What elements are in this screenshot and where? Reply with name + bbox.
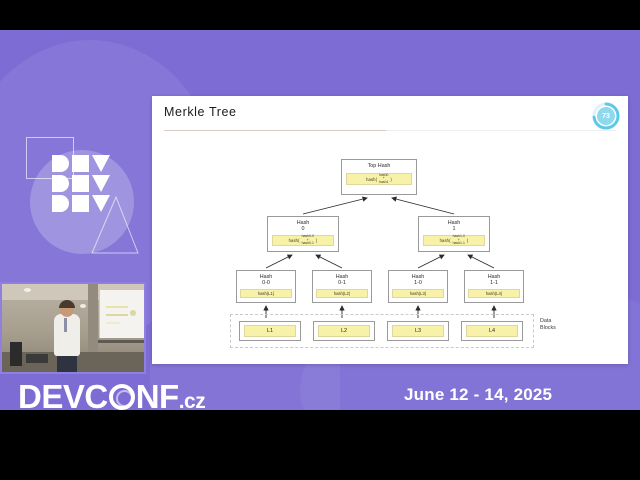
data-block-label: L3	[392, 325, 444, 337]
speaker-legs	[57, 354, 77, 374]
ceiling-light-icon	[24, 288, 31, 292]
letterbox-top	[0, 0, 640, 30]
node-hash-0-1: Hash 0-1 hash(L2)	[312, 270, 372, 303]
formula-fn: hash(	[289, 238, 300, 243]
projection-screen	[99, 290, 145, 338]
node-formula: hash(L4)	[468, 289, 520, 298]
devconf-wordmark: DEVC NF .cz open source community confer…	[18, 380, 205, 410]
operand-bottom: hash0-1	[302, 242, 314, 246]
node-hash-1-0: Hash 1-0 hash(L3)	[388, 270, 448, 303]
data-blocks-caption: Data Blocks	[540, 318, 556, 332]
data-block-label: L4	[466, 325, 518, 337]
wordmark-pre: DEVC	[18, 380, 108, 410]
node-formula: hash( hash0-0 + hash0-1 )	[272, 235, 334, 246]
data-blocks-group: L1 L2 L3 L4	[230, 314, 534, 348]
operand-bottom: hash1	[379, 181, 388, 185]
node-label: Top Hash	[368, 160, 391, 169]
node-formula: hash( hash1-0 + hash1-1 )	[423, 235, 485, 246]
ceiling-light-icon	[80, 304, 86, 308]
formula-operands: hash1-0 + hash1-1	[453, 235, 465, 246]
presentation-slide: Merkle Tree 73	[152, 96, 628, 364]
data-block: L2	[313, 321, 375, 341]
wordmark-tld: .cz	[179, 391, 206, 410]
screen-content-line	[106, 306, 128, 308]
node-formula: hash(L1)	[240, 289, 292, 298]
formula-fn: hash(	[366, 177, 377, 182]
wordmark-row: DEVC NF .cz	[18, 380, 205, 410]
node-formula: hash(L2)	[316, 289, 368, 298]
footer-branding: DEVC NF .cz open source community confer…	[0, 372, 640, 410]
node-label: Hash 1-0	[412, 271, 425, 287]
screen-content-line	[106, 322, 120, 324]
video-frame: Merkle Tree 73	[0, 0, 640, 480]
operand-bottom: hash1-1	[453, 242, 465, 246]
node-label: Hash 0-1	[336, 271, 349, 287]
data-block: L3	[387, 321, 449, 341]
screen-content-dot	[130, 310, 136, 316]
node-formula: hash(L3)	[392, 289, 444, 298]
formula-close: )	[467, 238, 469, 243]
formula-operands: hash0-0 + hash0-1	[302, 235, 314, 246]
speaker-lanyard	[64, 318, 67, 332]
screen-content-line	[106, 314, 128, 316]
data-block: L1	[239, 321, 301, 341]
formula-fn: hash(	[440, 238, 451, 243]
formula-operands: hash0 + hash1	[379, 174, 388, 185]
event-date: June 12 - 14, 2025	[404, 384, 584, 407]
node-hash-0: Hash 0 hash( hash0-0 + hash0-1 )	[267, 216, 339, 252]
node-hash-1: Hash 1 hash( hash1-0 + hash1-1 )	[418, 216, 490, 252]
node-top-hash: Top Hash hash( hash0 + hash1 )	[341, 159, 417, 195]
node-hash-1-1: Hash 1-1 hash(L4)	[464, 270, 524, 303]
letterbox-bottom	[0, 410, 640, 480]
desk-edge	[98, 340, 146, 343]
devconf-logo-mark	[8, 125, 148, 275]
data-block-label: L2	[318, 325, 370, 337]
node-label: Hash 0-0	[260, 271, 273, 287]
node-formula: hash( hash0 + hash1 )	[346, 173, 412, 185]
node-label: Hash 0	[297, 217, 310, 233]
speaker-video-inset	[0, 282, 146, 374]
slide-stage: Merkle Tree 73	[0, 30, 640, 410]
node-label: Hash 1	[448, 217, 461, 233]
data-block: L4	[461, 321, 523, 341]
event-details: June 12 - 14, 2025 Brno, Czech Republic	[404, 384, 584, 410]
laptop-device	[26, 354, 48, 363]
node-label: Hash 1-1	[488, 271, 501, 287]
node-hash-0-0: Hash 0-0 hash(L1)	[236, 270, 296, 303]
data-block-label: L1	[244, 325, 296, 337]
wordmark-post: NF	[136, 380, 179, 410]
logo-letter-grid	[52, 155, 110, 215]
wordmark-o-icon	[109, 384, 135, 410]
formula-close: )	[316, 238, 318, 243]
merkle-tree-diagram: Top Hash hash( hash0 + hash1 ) Hash 0	[152, 96, 628, 364]
monitor-device	[10, 342, 22, 366]
formula-close: )	[390, 177, 392, 182]
